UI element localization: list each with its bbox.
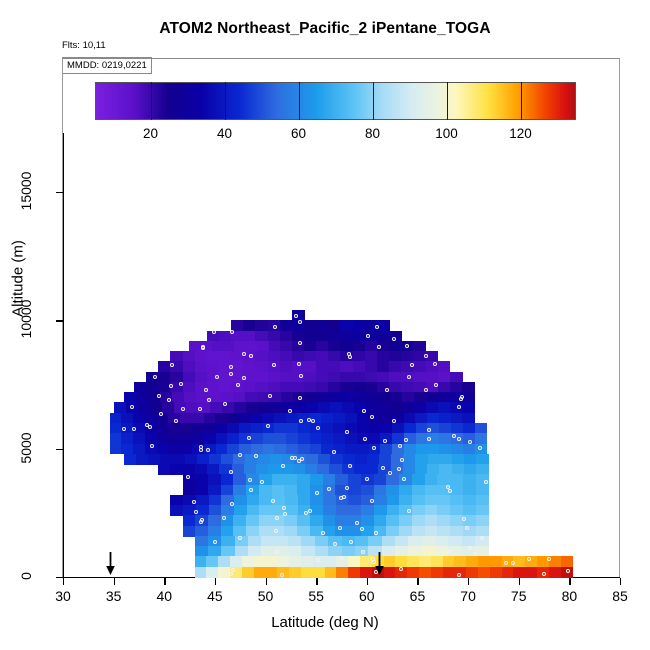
heatmap-cell [399, 495, 412, 506]
heatmap-cell [246, 341, 258, 352]
heatmap-cell [440, 454, 453, 465]
heatmap-cell [280, 351, 293, 362]
heatmap-cell [401, 382, 414, 393]
sample-marker [260, 480, 264, 484]
heatmap-cell [183, 515, 196, 526]
heatmap-cell [183, 361, 196, 372]
heatmap-cell [439, 433, 451, 444]
heatmap-cell [333, 433, 345, 444]
heatmap-cell [285, 495, 298, 506]
heatmap-cell [415, 413, 427, 424]
heatmap-cell [354, 464, 367, 475]
heatmap-cell [348, 556, 360, 567]
heatmap-cell [413, 361, 426, 372]
heatmap-cell [310, 444, 322, 455]
sample-marker [222, 516, 226, 520]
heatmap-cell [209, 454, 222, 465]
sample-marker [333, 542, 337, 546]
heatmap-cell [304, 372, 317, 383]
heatmap-cell [268, 382, 281, 393]
heatmap-cell [321, 413, 333, 424]
sample-marker [150, 444, 154, 448]
heatmap-cell [146, 382, 159, 393]
heatmap-cell [197, 454, 210, 465]
heatmap-cell [513, 567, 525, 578]
heatmap-cell [133, 413, 145, 424]
sample-marker [229, 572, 233, 576]
heatmap-cell [259, 526, 272, 537]
heatmap-cell [463, 444, 475, 455]
heatmap-cell [342, 546, 356, 557]
heatmap-cell [387, 495, 400, 506]
heatmap-cell [427, 464, 440, 475]
heatmap-cell [380, 413, 392, 424]
heatmap-cell [305, 464, 318, 475]
sample-marker [433, 362, 437, 366]
heatmap-cell [207, 464, 220, 475]
heatmap-cell [316, 320, 329, 331]
heatmap-cell [195, 567, 207, 578]
heatmap-cell [158, 464, 171, 475]
heatmap-cell [206, 567, 218, 578]
sample-marker [452, 434, 456, 438]
heatmap-cell [490, 556, 502, 567]
heatmap-cell [242, 556, 254, 567]
heatmap-cell [382, 536, 396, 547]
sample-marker [338, 526, 342, 530]
heatmap-cell [366, 464, 379, 475]
heatmap-cell [428, 454, 441, 465]
heatmap-cell [298, 423, 310, 434]
heatmap-cell [476, 505, 489, 516]
heatmap-cell [280, 331, 293, 342]
heatmap-cell [157, 444, 169, 455]
heatmap-cell [323, 505, 336, 516]
heatmap-cell [439, 464, 452, 475]
heatmap-cell [304, 351, 317, 362]
heatmap-cell [328, 320, 341, 331]
x-axis-tick [569, 578, 570, 585]
heatmap-cell [361, 505, 374, 516]
heatmap-cell [110, 423, 122, 434]
heatmap-cell [389, 341, 402, 352]
heatmap-cell [183, 464, 196, 475]
heatmap-cell [335, 515, 348, 526]
heatmap-cell [310, 515, 323, 526]
sample-marker [316, 558, 320, 562]
heatmap-cell [425, 526, 438, 537]
heatmap-cell [133, 433, 145, 444]
heatmap-cell [431, 567, 443, 578]
heatmap-cell [379, 454, 392, 465]
heatmap-cell [186, 402, 199, 413]
heatmap-cell [286, 423, 298, 434]
heatmap-cell [170, 372, 183, 383]
y-axis-tick [56, 577, 64, 578]
heatmap-cell [450, 382, 463, 393]
heatmap-cell [340, 361, 353, 372]
heatmap-cell [329, 392, 342, 403]
heatmap-cell [407, 567, 419, 578]
heatmap-cell [476, 464, 489, 475]
heatmap-cell [233, 526, 246, 537]
heatmap-cell [280, 341, 292, 352]
x-axis-tick [620, 578, 621, 585]
heatmap-cell [318, 454, 331, 465]
x-axis-tick [417, 578, 418, 585]
heatmap-cell [274, 444, 286, 455]
heatmap-cell [195, 464, 208, 475]
heatmap-cell [374, 495, 387, 506]
heatmap-cell [390, 392, 403, 403]
heatmap-cell [227, 423, 239, 434]
heatmap-cell [328, 382, 341, 393]
heatmap-cell [195, 536, 209, 547]
heatmap-cell [378, 392, 391, 403]
heatmap-cell [415, 464, 428, 475]
heatmap-cell [328, 546, 342, 557]
heatmap-cell [355, 536, 369, 547]
heatmap-cell [210, 402, 223, 413]
heatmap-cell [235, 536, 249, 547]
heatmap-cell [333, 423, 345, 434]
heatmap-cell [195, 556, 207, 567]
heatmap-cell [464, 454, 477, 465]
x-axis-tick-label: 30 [55, 588, 71, 604]
heatmap-cell [246, 515, 259, 526]
heatmap-cell [248, 536, 262, 547]
heatmap-cell [377, 351, 390, 362]
heatmap-cell [439, 423, 451, 434]
heatmap-cell [255, 320, 268, 331]
heatmap-cell [268, 464, 281, 475]
heatmap-cell [180, 444, 192, 455]
heatmap-cell [114, 402, 127, 413]
heatmap-cell [257, 341, 269, 352]
heatmap-cell [426, 392, 439, 403]
heatmap-cell [218, 556, 230, 567]
heatmap-cell [280, 372, 293, 383]
heatmap-cell [157, 423, 169, 434]
heatmap-cell [317, 464, 330, 475]
heatmap-cell [462, 413, 474, 424]
heatmap-cell [316, 341, 329, 352]
heatmap-cell [341, 392, 354, 403]
heatmap-cell [293, 464, 306, 475]
heatmap-cell [389, 361, 402, 372]
heatmap-cell [435, 536, 449, 547]
heatmap-cell [413, 372, 426, 383]
heatmap-cell [462, 382, 475, 393]
heatmap-cell [439, 444, 451, 455]
heatmap-cell [462, 536, 476, 547]
heatmap-cell [478, 567, 490, 578]
heatmap-cell [419, 567, 431, 578]
heatmap-cell [184, 392, 197, 403]
heatmap-cell [329, 464, 342, 475]
heatmap-cell [450, 474, 463, 485]
sample-marker [363, 437, 367, 441]
heatmap-cell [284, 515, 297, 526]
heatmap-cell [277, 556, 289, 567]
heatmap-cell [110, 413, 122, 424]
heatmap-cell [353, 341, 366, 352]
heatmap-cell [284, 526, 297, 537]
heatmap-cell [345, 433, 357, 444]
heatmap-cell [330, 454, 343, 465]
colorbar-tick [151, 82, 152, 120]
heatmap-cell [207, 351, 220, 362]
heatmap-cell [255, 331, 268, 342]
sample-marker [298, 396, 302, 400]
sample-marker [179, 382, 183, 386]
heatmap-cell [365, 372, 378, 383]
heatmap-cell [192, 433, 204, 444]
heatmap-cell [209, 495, 222, 506]
heatmap-cell [316, 361, 329, 372]
heatmap-cell [172, 392, 185, 403]
heatmap-cell [268, 372, 281, 383]
sample-marker [268, 394, 272, 398]
heatmap-cell [180, 413, 192, 424]
heatmap-cell [476, 495, 489, 506]
heatmap-cell [263, 444, 275, 455]
heatmap-cell [248, 546, 262, 557]
heatmap-cell [431, 556, 443, 567]
heatmap-cell [437, 515, 450, 526]
heatmap-cell [230, 556, 242, 567]
heatmap-cell [367, 454, 380, 465]
heatmap-cell [292, 382, 305, 393]
heatmap-cell [160, 392, 173, 403]
x-axis-tick [519, 578, 520, 585]
heatmap-cell [259, 485, 272, 496]
heatmap-cell [301, 556, 313, 567]
heatmap-cell [342, 402, 355, 413]
heatmap-cell [427, 444, 439, 455]
heatmap-cell [216, 433, 228, 444]
heatmap-cell [227, 433, 239, 444]
sample-marker [480, 536, 484, 540]
heatmap-cell [403, 464, 416, 475]
heatmap-cell [451, 423, 463, 434]
y-axis-tick [56, 320, 64, 321]
heatmap-cell [206, 556, 218, 567]
heatmap-cell [124, 454, 137, 465]
heatmap-cell [340, 331, 353, 342]
heatmap-cell [380, 433, 392, 444]
heatmap-cell [395, 536, 409, 547]
x-axis-tick [215, 578, 216, 585]
heatmap-cell [328, 331, 341, 342]
heatmap-cell [306, 454, 319, 465]
heatmap-cell [353, 331, 366, 342]
heatmap-cell [110, 433, 122, 444]
heatmap-cell [502, 567, 514, 578]
heatmap-cell [221, 454, 234, 465]
heatmap-cell [340, 341, 353, 352]
heatmap-cell [374, 505, 387, 516]
heatmap-cell [425, 474, 438, 485]
heatmap-cell [353, 382, 366, 393]
heatmap-cell [281, 392, 294, 403]
heatmap-cell [272, 485, 285, 496]
x-axis-tick-label: 35 [106, 588, 122, 604]
heatmap-cell [286, 433, 298, 444]
x-axis-tick [316, 578, 317, 585]
sample-marker [345, 430, 349, 434]
heatmap-cell [310, 495, 323, 506]
heatmap-cell [353, 392, 366, 403]
x-axis-tick [266, 578, 267, 585]
sample-marker [370, 415, 374, 419]
heatmap-cell [392, 433, 404, 444]
heatmap-cell [386, 526, 399, 537]
heatmap-cell [378, 402, 391, 413]
heatmap-cell [365, 351, 378, 362]
heatmap-cell [404, 444, 416, 455]
sample-marker [360, 527, 364, 531]
heatmap-cell [414, 392, 427, 403]
heatmap-cell [261, 546, 275, 557]
heatmap-cell [298, 433, 310, 444]
heatmap-cell [414, 402, 427, 413]
colorbar: 20406080100120 [95, 82, 576, 120]
heatmap-cell [323, 515, 336, 526]
heatmap-cell [170, 351, 183, 362]
heatmap-cell [251, 413, 263, 424]
heatmap-cell [265, 556, 277, 567]
y-axis-tick-label: 5000 [18, 422, 34, 474]
heatmap-cell [219, 351, 232, 362]
colorbar-tick [447, 82, 448, 120]
heatmap-cell [242, 567, 254, 578]
heatmap-cell [234, 402, 247, 413]
heatmap-cell [403, 454, 416, 465]
heatmap-cell [243, 361, 256, 372]
heatmap-cell [172, 454, 185, 465]
heatmap-cell [208, 515, 221, 526]
heatmap-cell [448, 536, 462, 547]
x-axis-tick [468, 578, 469, 585]
heatmap-cell [377, 331, 390, 342]
heatmap-cell [212, 341, 224, 352]
sample-marker [457, 573, 461, 577]
heatmap-cell [233, 392, 246, 403]
heatmap-cell [336, 567, 348, 578]
x-axis-tick-label: 60 [359, 588, 375, 604]
heatmap-cell [404, 423, 416, 434]
sample-marker [404, 438, 408, 442]
heatmap-cell [386, 485, 399, 496]
y-axis-tick [56, 449, 64, 450]
heatmap-cell [353, 361, 366, 372]
heatmap-cell [195, 546, 209, 557]
heatmap-cell [513, 556, 525, 567]
heatmap-cell [315, 546, 329, 557]
sample-marker [169, 384, 173, 388]
heatmap-cell [463, 485, 476, 496]
heatmap-cell [233, 474, 246, 485]
heatmap-cell [315, 536, 329, 547]
heatmap-cell [408, 536, 422, 547]
heatmap-cell [490, 567, 502, 578]
heatmap-cell [365, 392, 378, 403]
heatmap-cell [180, 433, 192, 444]
heatmap-cell [425, 485, 438, 496]
heatmap-cell [304, 320, 317, 331]
heatmap-cell [316, 372, 329, 383]
heatmap-cell [134, 382, 147, 393]
heatmap-cell [437, 474, 450, 485]
sample-marker [145, 423, 149, 427]
heatmap-cell [348, 485, 361, 496]
heatmap-cell [170, 495, 183, 506]
heatmap-cell [475, 546, 489, 557]
heatmap-cell [450, 505, 463, 516]
heatmap-cell [255, 372, 268, 383]
heatmap-cell [476, 485, 489, 496]
heatmap-cell [195, 372, 208, 383]
heatmap-cell [272, 474, 285, 485]
heatmap-cell [189, 341, 201, 352]
heatmap-cell [259, 505, 272, 516]
heatmap-cell [208, 546, 222, 557]
heatmap-cell [121, 413, 133, 424]
heatmap-cell [328, 351, 341, 362]
heatmap-cell [399, 526, 412, 537]
heatmap-cell [233, 515, 246, 526]
heatmap-cell [195, 351, 208, 362]
heatmap-cell [478, 556, 490, 567]
heatmap-cell [207, 382, 220, 393]
heatmap-cell [374, 474, 387, 485]
heatmap-cell [284, 485, 297, 496]
heatmap-cell [239, 423, 251, 434]
sample-marker [280, 573, 284, 577]
heatmap-cell [292, 331, 305, 342]
heatmap-cell [369, 433, 381, 444]
heatmap-cell [254, 556, 266, 567]
heatmap-cell [369, 423, 381, 434]
heatmap-cell [386, 515, 399, 526]
heatmap-cell [437, 526, 450, 537]
heatmap-cell [245, 392, 258, 403]
sample-marker [355, 521, 359, 525]
heatmap-cell [185, 454, 198, 465]
heatmap-cell [298, 495, 311, 506]
heatmap-cell [476, 526, 489, 537]
heatmap-cell [304, 382, 317, 393]
heatmap-cell [353, 372, 366, 383]
heatmap-cell [380, 423, 392, 434]
heatmap-cell [297, 515, 310, 526]
heatmap-cell [275, 536, 289, 547]
heatmap-cell [463, 505, 476, 516]
x-axis-tick-label: 40 [156, 588, 172, 604]
heatmap-cell [196, 495, 209, 506]
heatmap-cell [451, 413, 463, 424]
x-axis-title: Latitude (deg N) [0, 614, 650, 631]
heatmap-cell [158, 372, 171, 383]
heatmap-cell [234, 505, 247, 516]
heatmap-cell [274, 423, 286, 434]
heatmap-cell [195, 361, 208, 372]
heatmap-cell [402, 392, 415, 403]
flights-annotation: Flts: 10,11 [62, 40, 106, 51]
sample-marker [206, 448, 210, 452]
heatmap-cell [286, 413, 298, 424]
